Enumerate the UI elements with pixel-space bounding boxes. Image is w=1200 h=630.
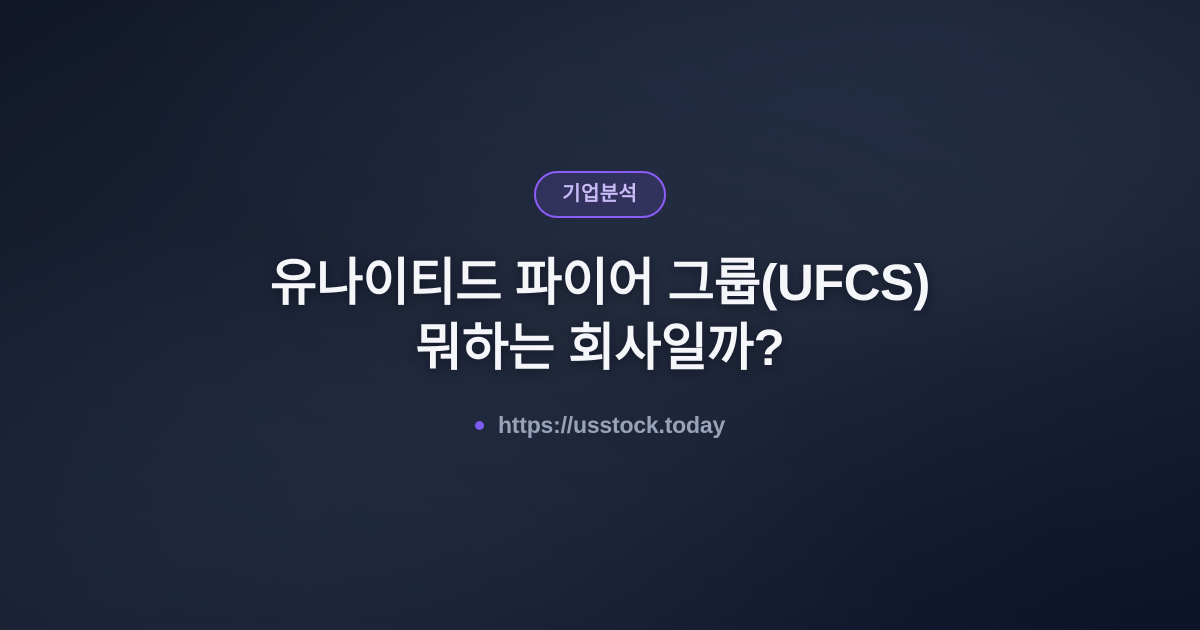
category-badge-label: 기업분석 [562,184,637,204]
og-share-card: 기업분석 유나이티드 파이어 그룹(UFCS) 뭐하는 회사일까? https:… [0,0,1200,630]
category-badge[interactable]: 기업분석 [534,171,665,218]
card-content: 기업분석 유나이티드 파이어 그룹(UFCS) 뭐하는 회사일까? https:… [100,171,1100,438]
bullet-dot-icon [475,421,484,430]
site-url[interactable]: https://usstock.today [475,414,725,437]
page-title-line-2: 뭐하는 회사일까? [270,315,930,380]
page-title: 유나이티드 파이어 그룹(UFCS) 뭐하는 회사일까? [270,250,930,381]
page-title-line-1: 유나이티드 파이어 그룹(UFCS) [270,250,930,315]
site-url-label: https://usstock.today [498,414,725,437]
